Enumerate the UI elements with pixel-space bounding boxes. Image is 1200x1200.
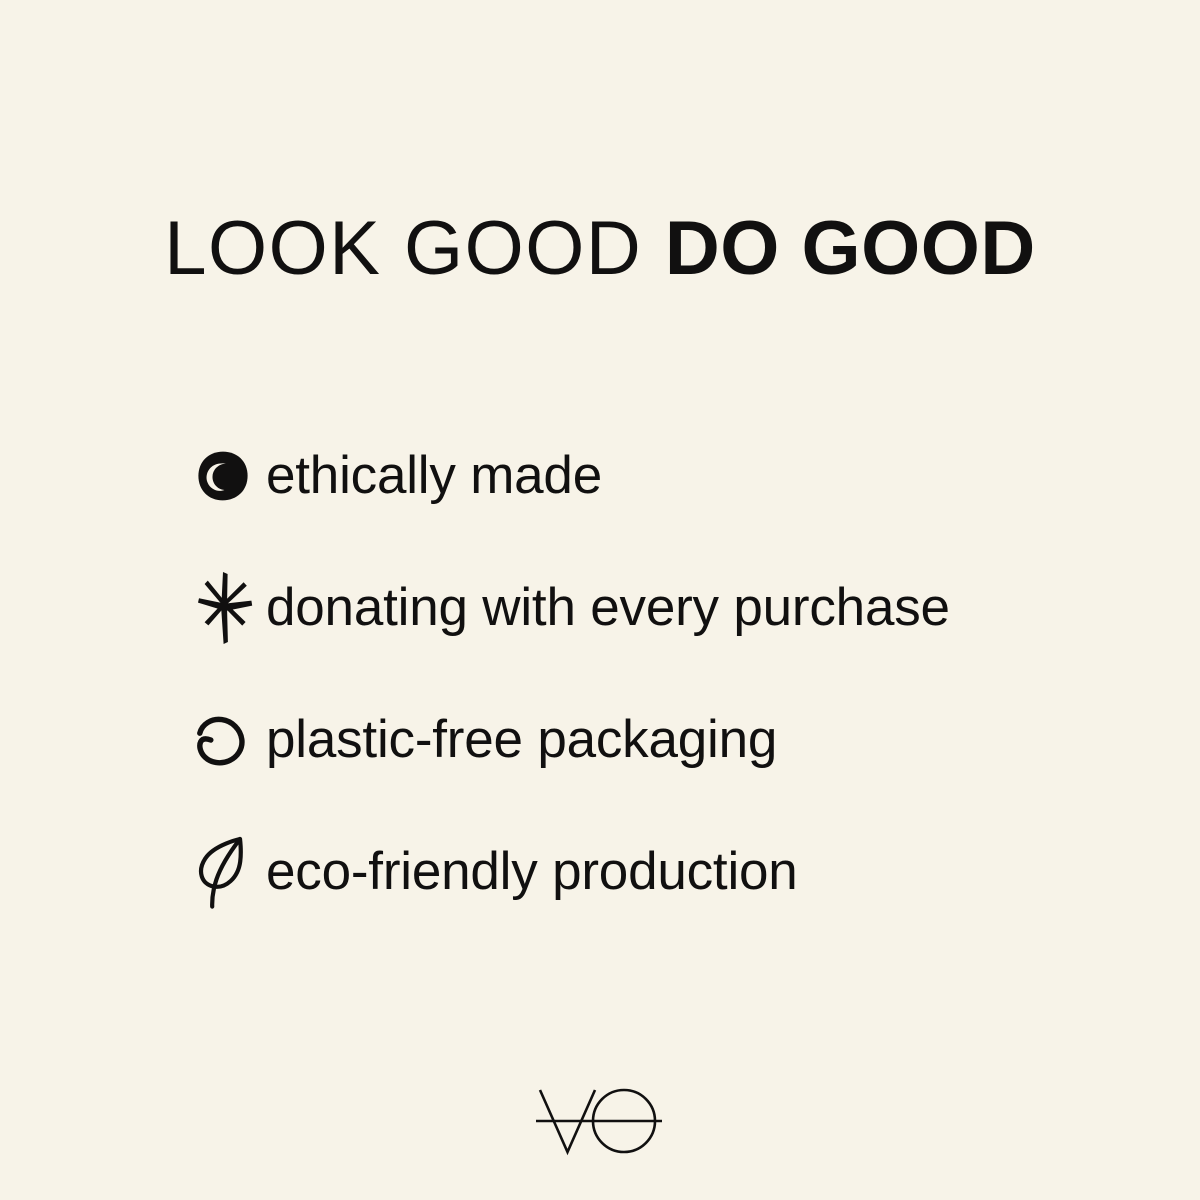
list-item: donating with every purchase — [196, 542, 1076, 674]
crescent-circle-icon — [196, 441, 258, 511]
feature-list: ethically made donat — [196, 410, 1076, 938]
brand-logo — [0, 1080, 1200, 1162]
promo-graphic: LOOK GOOD DO GOOD ethically made — [0, 0, 1200, 1200]
page-title: LOOK GOOD DO GOOD — [0, 206, 1200, 292]
asterisk-star-icon — [196, 573, 258, 643]
list-item: eco-friendly production — [196, 806, 1076, 938]
list-item: ethically made — [196, 410, 1076, 542]
vo-monogram-logo — [530, 1080, 670, 1162]
list-item-label: plastic-free packaging — [258, 710, 777, 770]
open-circle-icon — [196, 705, 258, 775]
list-item-label: eco-friendly production — [258, 842, 798, 902]
list-item: plastic-free packaging — [196, 674, 1076, 806]
page-title-light: LOOK GOOD — [164, 206, 642, 291]
list-item-label: donating with every purchase — [258, 578, 950, 638]
page-title-bold: DO GOOD — [665, 206, 1036, 291]
list-item-label: ethically made — [258, 446, 602, 506]
leaf-icon — [196, 837, 258, 907]
